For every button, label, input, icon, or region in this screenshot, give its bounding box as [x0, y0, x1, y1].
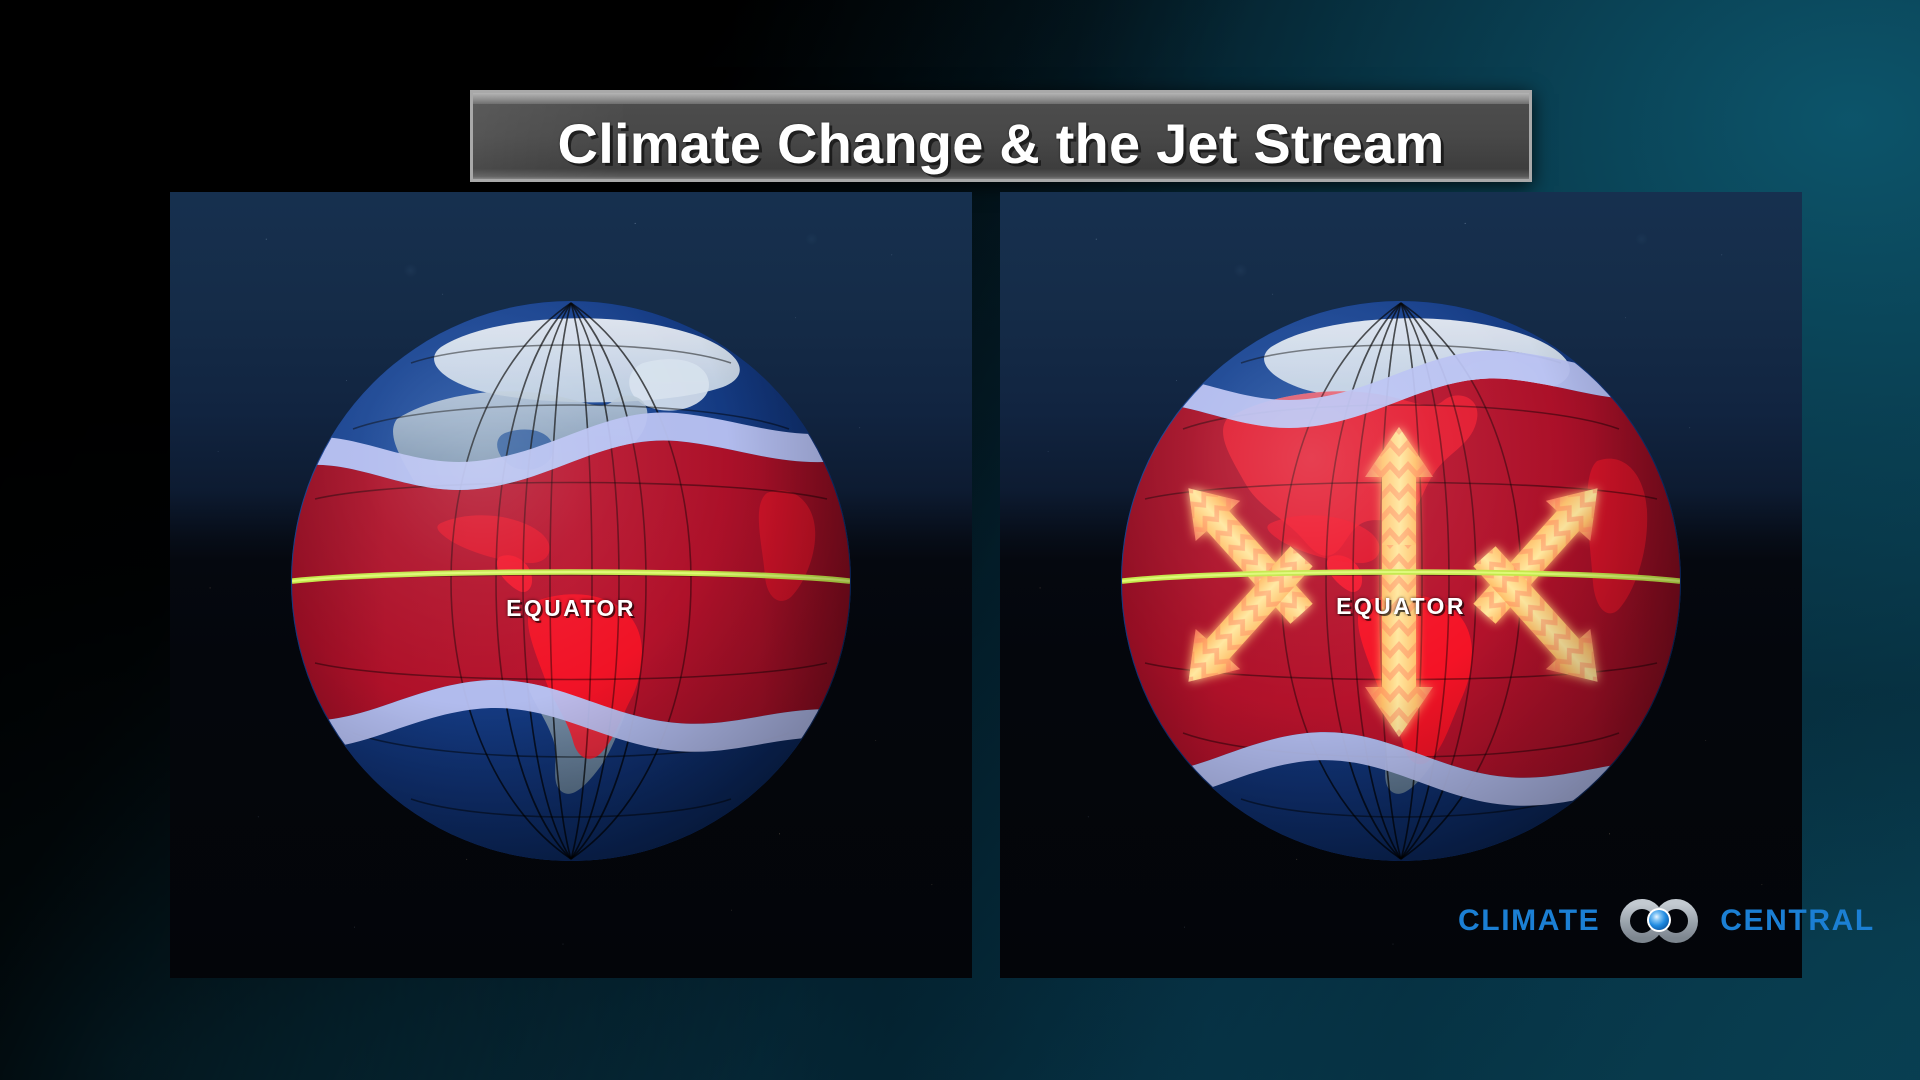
infographic-root: Climate Change & the Jet Stream: [0, 0, 1920, 1080]
panel-present-day: EQUATOR: [170, 192, 972, 978]
climate-central-logo[interactable]: CLIMATE: [1458, 898, 1875, 944]
globe-present-day: EQUATOR: [291, 301, 851, 861]
equator-line-expanded: [1121, 301, 1681, 861]
logo-word-climate: CLIMATE: [1458, 906, 1600, 936]
panel-warmer-world: EQUATOR: [1000, 192, 1802, 978]
page-title: Climate Change & the Jet Stream: [473, 93, 1529, 182]
title-banner: Climate Change & the Jet Stream: [470, 90, 1532, 182]
infinity-rings-icon: [1608, 898, 1712, 944]
globe-warmer-world: EQUATOR: [1121, 301, 1681, 861]
logo-word-central: CENTRAL: [1720, 906, 1875, 936]
equator-line-present: [291, 301, 851, 861]
